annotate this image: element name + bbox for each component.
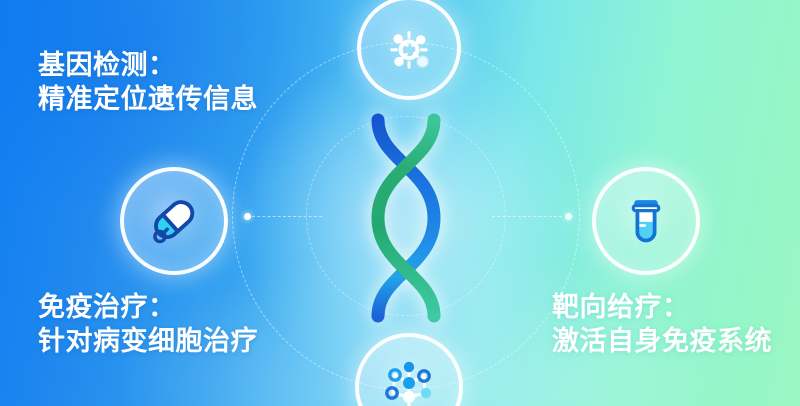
callout-immunotherapy: 免疫治疗： 针对病变细胞治疗 xyxy=(38,290,258,358)
infographic-canvas: 基因检测： 精准定位遗传信息 免疫治疗： 针对病变细胞治疗 靶向给疗： 激活自身… xyxy=(0,0,800,406)
molecule-node-icon xyxy=(380,19,438,77)
callout-title: 基因检测： xyxy=(38,48,258,82)
callout-targeted-therapy: 靶向给疗： 激活自身免疫系统 xyxy=(552,290,772,358)
capsule-pill-icon xyxy=(143,190,205,252)
callout-subtitle: 针对病变细胞治疗 xyxy=(38,324,258,358)
callout-title: 免疫治疗： xyxy=(38,290,258,324)
icon-bubble-molecule[interactable] xyxy=(357,0,461,100)
connector-line-right xyxy=(492,216,562,217)
connector-dot-right xyxy=(565,213,572,220)
connector-line-left xyxy=(252,216,322,217)
icon-bubble-test-tube[interactable] xyxy=(592,167,700,275)
network-nodes-icon xyxy=(377,355,441,406)
test-tube-icon xyxy=(617,192,675,250)
callout-gene-testing: 基因检测： 精准定位遗传信息 xyxy=(38,48,258,116)
connector-dot-left xyxy=(244,213,251,220)
callout-title: 靶向给疗： xyxy=(552,290,772,324)
icon-bubble-capsule[interactable] xyxy=(120,167,228,275)
dna-double-helix xyxy=(352,112,460,324)
callout-subtitle: 精准定位遗传信息 xyxy=(38,82,258,116)
callout-subtitle: 激活自身免疫系统 xyxy=(552,324,772,358)
